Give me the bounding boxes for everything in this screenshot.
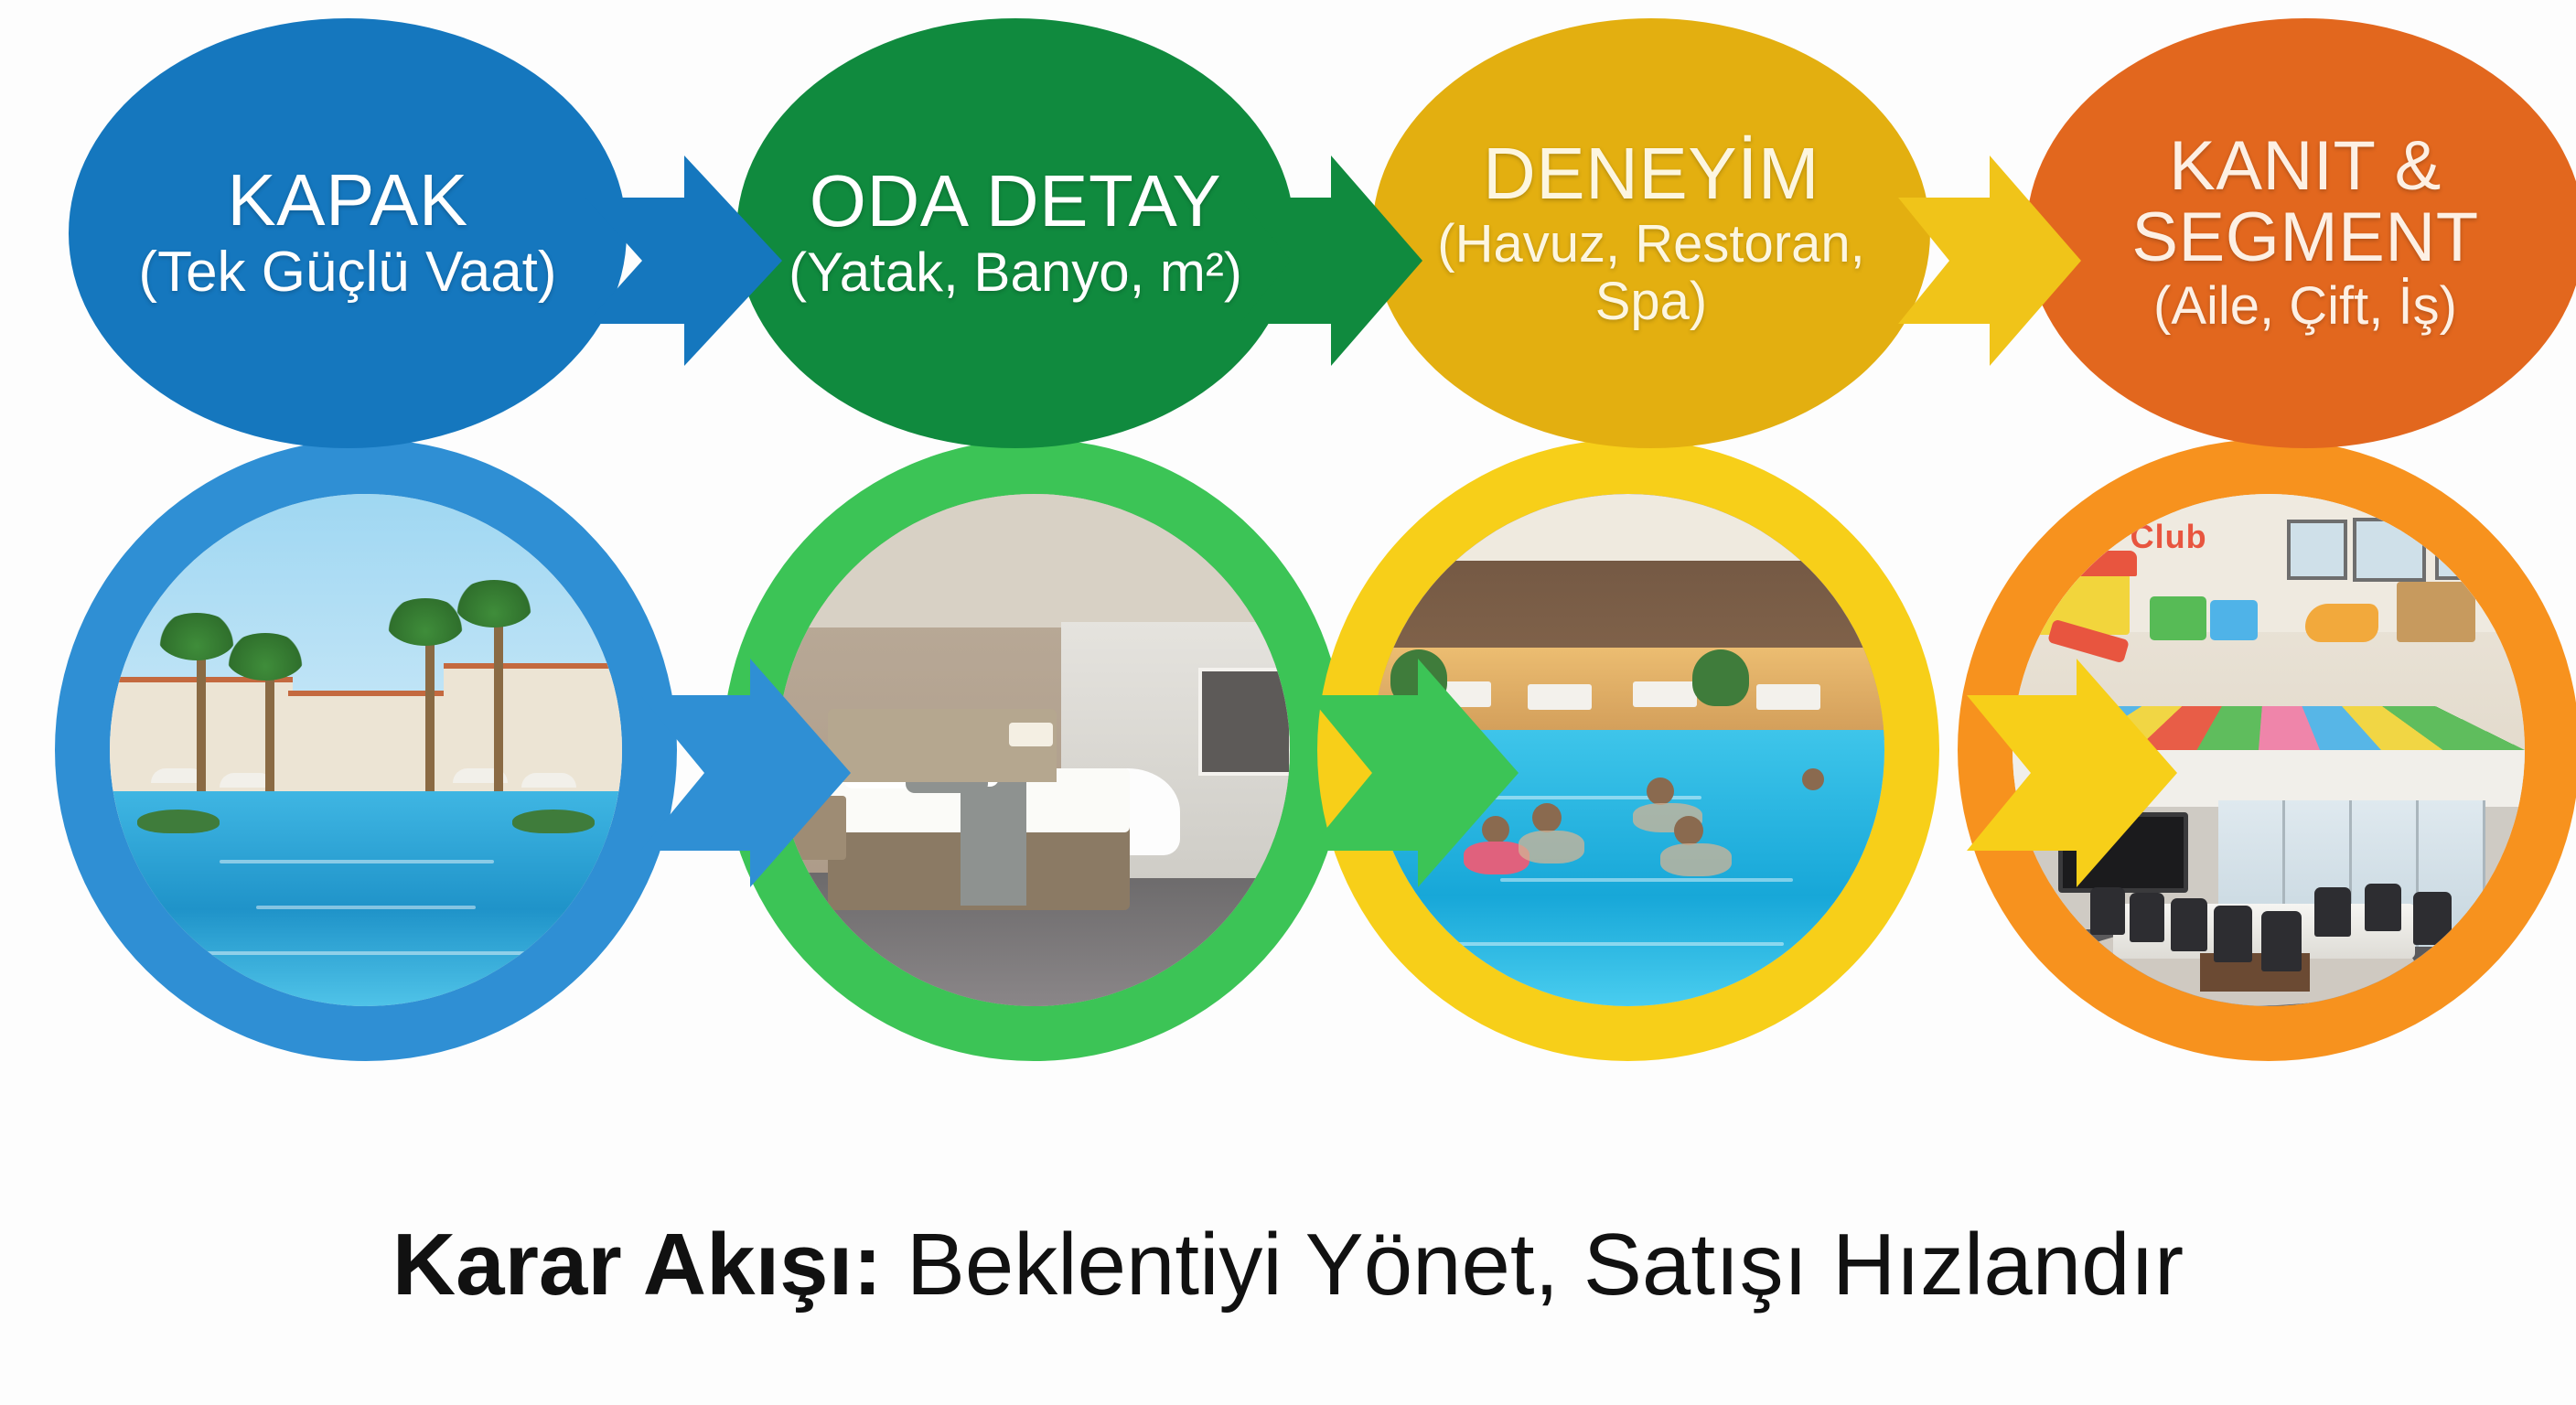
wall-lamp: [1009, 723, 1053, 746]
toy-rocking-horse: [2305, 604, 2378, 642]
photo-arrow-3-to-4: [1967, 659, 2177, 887]
potted-plant: [1692, 649, 1749, 706]
water-ripple: [220, 860, 494, 863]
water-ripple: [1500, 878, 1793, 882]
office-chair: [2214, 906, 2252, 962]
step-title-deneyim: DENEYİM: [1483, 136, 1819, 211]
swimmer: [1532, 803, 1562, 832]
playroom-window: [2287, 520, 2347, 580]
arrow-oda-detay-to-deneyim: [1240, 156, 1422, 366]
step-title-kapak: KAPAK: [227, 163, 467, 238]
photo-arrow-1-to-2: [640, 659, 851, 887]
step-circle-deneyim[interactable]: DENEYİM (Havuz, Restoran, Spa): [1372, 18, 1930, 448]
terrace-roof: [1372, 494, 1884, 561]
restaurant-table: [1633, 681, 1697, 707]
palm-tree: [157, 613, 236, 660]
step-subtitle-deneyim: (Havuz, Restoran, Spa): [1436, 216, 1866, 330]
bookshelf: [2397, 582, 2475, 642]
toy-playhouse: [2029, 569, 2130, 635]
infographic-canvas: Kids' Club: [0, 0, 2576, 1405]
toy-playhouse-roof: [2022, 551, 2137, 576]
swimmer: [1519, 831, 1584, 863]
office-chair: [2413, 892, 2452, 945]
water-ripple: [1436, 942, 1784, 946]
step-subtitle-oda-detay: (Yatak, Banyo, m²): [789, 243, 1242, 303]
caption-rest: Beklentiyi Yönet, Satışı Hızlandır: [882, 1216, 2184, 1314]
office-chair: [2090, 887, 2125, 935]
pool-umbrella: [521, 773, 576, 788]
swimmer: [1647, 778, 1674, 805]
planter-shrub: [512, 810, 595, 833]
restaurant-table: [1756, 684, 1820, 710]
resort-pool-photo: [110, 494, 622, 1006]
step-circle-kapak[interactable]: KAPAK (Tek Güçlü Vaat): [69, 18, 627, 448]
playroom-window: [2435, 520, 2495, 580]
step-title-oda-detay: ODA DETAY: [810, 164, 1222, 239]
office-chair: [2171, 898, 2207, 951]
office-chair: [2130, 893, 2164, 942]
photo-arrow-2-to-3: [1308, 659, 1519, 887]
toy-bin: [2210, 600, 2258, 640]
step-circle-kanit-segment[interactable]: KANIT & SEGMENT (Aile, Çift, İş): [2026, 18, 2576, 448]
caption-strong: Karar Akışı:: [392, 1216, 882, 1314]
playroom-window: [2353, 518, 2426, 582]
step-title-kanit-line2: SEGMENT: [2131, 202, 2478, 273]
swimmer: [1674, 816, 1703, 845]
swimmer: [1660, 843, 1732, 876]
palm-tree: [386, 598, 465, 646]
step-title-kanit-line1: KANIT &: [2169, 131, 2442, 202]
bathroom-mirror: [1198, 668, 1290, 776]
water-ripple: [256, 906, 476, 909]
photo-ring-resort-pool: [55, 439, 677, 1061]
toy-bin: [2150, 596, 2206, 640]
palm-tree: [226, 633, 305, 681]
office-chair: [2314, 887, 2351, 937]
restaurant-table: [1528, 684, 1592, 710]
hotel-room-photo: [778, 494, 1290, 1006]
step-circle-oda-detay[interactable]: ODA DETAY (Yatak, Banyo, m²): [736, 18, 1294, 448]
swimmer: [1802, 768, 1824, 790]
arrow-deneyim-to-kanit-segment: [1898, 156, 2081, 366]
room-ceiling: [778, 494, 1290, 627]
water-ripple: [201, 951, 531, 955]
step-subtitle-kanit-segment: (Aile, Çift, İş): [2153, 278, 2457, 336]
arrow-kapak-to-oda-detay: [585, 156, 782, 366]
step-subtitle-kapak: (Tek Güçlü Vaat): [138, 242, 556, 304]
office-chair: [2261, 911, 2302, 971]
planter-shrub: [137, 810, 220, 833]
office-chair: [2365, 884, 2401, 931]
diagram-caption: Karar Akışı: Beklentiyi Yönet, Satışı Hı…: [0, 1217, 2576, 1314]
palm-tree: [455, 580, 533, 627]
